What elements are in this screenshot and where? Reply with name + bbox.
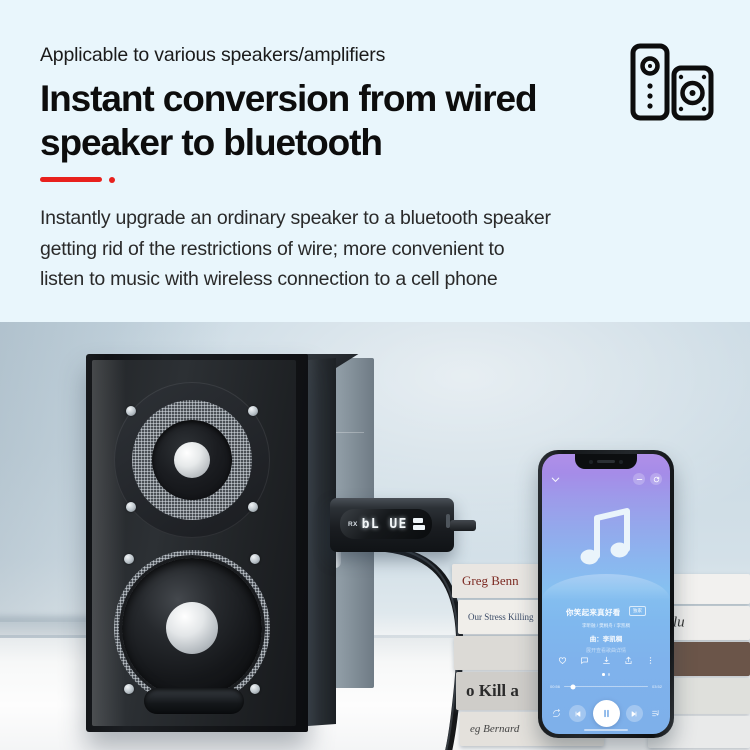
accent-divider <box>40 177 710 183</box>
receiver-indicators <box>413 518 425 530</box>
page-dot-2 <box>608 673 611 676</box>
player-action-row <box>542 656 670 665</box>
body-line-2: getting rid of the restrictions of wire;… <box>40 234 710 265</box>
smartphone: 你笑起来真好看 独家 李昕融 / 樊桐舟 / 李凯稠 曲：李凯稠 展开查看歌曲详… <box>538 450 674 738</box>
like-icon[interactable] <box>558 656 567 665</box>
woofer-dust-cap <box>166 602 218 654</box>
track-artist: 曲：李凯稠 <box>542 633 670 643</box>
screw-tweeter-bl <box>126 502 136 512</box>
body-copy: Instantly upgrade an ordinary speaker to… <box>40 203 710 295</box>
music-player-screen[interactable]: 你笑起来真好看 独家 李昕融 / 樊桐舟 / 李凯稠 曲：李凯稠 展开查看歌曲详… <box>542 454 670 734</box>
home-indicator <box>584 729 628 731</box>
progress-slider[interactable] <box>564 686 648 688</box>
receiver-rx-label: RX <box>348 521 358 528</box>
bluetooth-receiver: RX bL UE <box>330 498 454 552</box>
screw-woofer-tl <box>124 554 134 564</box>
next-track-button[interactable] <box>626 705 643 722</box>
screw-woofer-br <box>250 684 260 694</box>
page-indicator <box>542 673 670 676</box>
more-icon[interactable] <box>646 656 655 665</box>
audio-jack-plug <box>450 520 476 531</box>
accent-bar <box>40 177 102 182</box>
page-title: Instant conversion from wired speaker to… <box>40 77 640 164</box>
chevron-down-icon[interactable] <box>550 474 561 485</box>
comment-icon[interactable] <box>580 656 589 665</box>
receiver-display: RX bL UE <box>340 509 432 539</box>
speaker-cabinet <box>86 354 308 732</box>
speaker-gloss-highlight <box>92 360 126 726</box>
headline-line-2: speaker to bluetooth <box>40 121 640 164</box>
screw-tweeter-tr <box>248 406 258 416</box>
share-icon[interactable] <box>624 656 633 665</box>
body-line-3: listen to music with wireless connection… <box>40 264 710 295</box>
tweeter-dome <box>174 442 210 478</box>
eyebrow-text: Applicable to various speakers/amplifier… <box>40 44 710 67</box>
product-photo: RX bL UE Greg Benn Our Stress Killing o … <box>0 322 750 750</box>
body-line-1: Instantly upgrade an ordinary speaker to… <box>40 203 710 234</box>
artwork-wave-overlay <box>542 574 670 600</box>
refresh-icon[interactable] <box>650 473 662 485</box>
progress-row: 00:56 03:52 <box>542 684 670 689</box>
status-bar <box>542 456 670 468</box>
screw-woofer-tr <box>250 554 260 564</box>
track-tag: 独家 <box>629 606 646 616</box>
time-elapsed: 00:56 <box>550 684 560 689</box>
track-subtitle: 李昕融 / 樊桐舟 / 李凯稠 <box>542 623 670 629</box>
headline-line-1: Instant conversion from wired <box>40 77 640 120</box>
page-dot-1 <box>602 673 605 676</box>
playlist-icon[interactable] <box>649 707 662 720</box>
screw-tweeter-tl <box>126 406 136 416</box>
bluetooth-icon <box>413 518 423 523</box>
screw-woofer-bl <box>124 684 134 694</box>
speakers-pair-icon <box>629 42 715 132</box>
playback-controls <box>542 700 670 727</box>
battery-icon <box>413 525 425 530</box>
progress-knob[interactable] <box>571 684 576 689</box>
receiver-display-value: bL UE <box>362 517 408 532</box>
screw-tweeter-br <box>248 502 258 512</box>
bass-reflex-port <box>144 688 244 714</box>
pause-button[interactable] <box>593 700 620 727</box>
album-artwork <box>542 506 670 570</box>
track-extra: 展开查看歌曲详情 <box>542 647 670 654</box>
download-icon[interactable] <box>602 656 611 665</box>
repeat-icon[interactable] <box>550 707 563 720</box>
minimize-icon[interactable] <box>633 473 645 485</box>
track-info: 你笑起来真好看 独家 李昕融 / 樊桐舟 / 李凯稠 曲：李凯稠 展开查看歌曲详… <box>542 602 670 654</box>
player-nav-row <box>542 473 670 485</box>
track-title-row: 你笑起来真好看 独家 <box>542 602 670 620</box>
track-title: 你笑起来真好看 <box>566 608 621 617</box>
accent-dot <box>109 177 115 183</box>
time-total: 03:52 <box>652 684 662 689</box>
header-section: Applicable to various speakers/amplifier… <box>0 0 750 322</box>
music-note-icon <box>577 506 635 570</box>
bookshelf-speaker <box>86 354 336 732</box>
previous-track-button[interactable] <box>569 705 586 722</box>
